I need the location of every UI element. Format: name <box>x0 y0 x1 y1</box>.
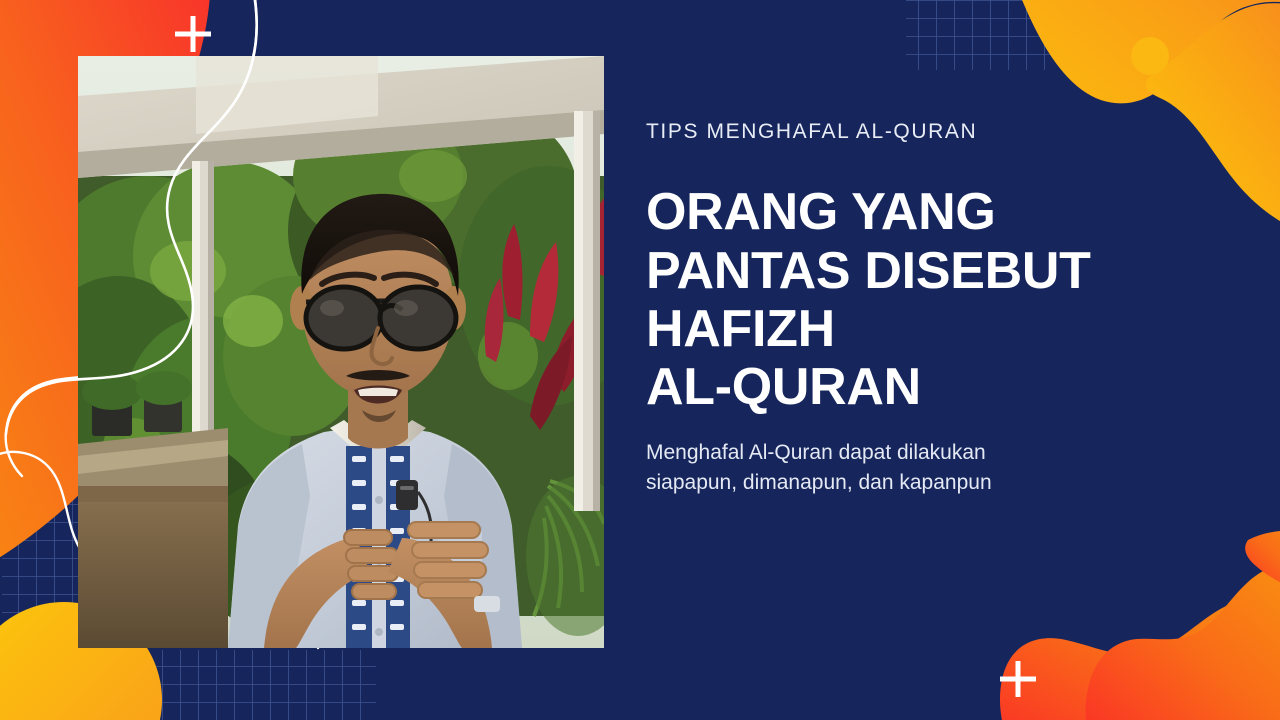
red-orange-blob-bottom-right <box>1000 592 1280 720</box>
text-column: TIPS MENGHAFAL AL-QURAN ORANG YANG PANTA… <box>646 118 1216 498</box>
eyebrow-label: TIPS MENGHAFAL AL-QURAN <box>646 118 1216 145</box>
grid-bottom-strip <box>118 650 376 720</box>
orange-sliver-right <box>1245 531 1280 600</box>
headline-line-1: ORANG YANG <box>646 183 1216 241</box>
speaker-photo <box>78 56 604 648</box>
subtitle: Menghafal Al-Quran dapat dilakukan siapa… <box>646 438 1166 498</box>
lapel-microphone <box>396 480 418 510</box>
headline-line-4: AL-QURAN <box>646 358 1216 416</box>
plus-top-left <box>175 16 211 52</box>
slide-canvas: TIPS MENGHAFAL AL-QURAN ORANG YANG PANTA… <box>0 0 1280 720</box>
headline-line-3: HAFIZH <box>646 300 1216 358</box>
headline-line-2: PANTAS DISEBUT <box>646 242 1216 300</box>
red-orange-blob-bottom-right-lobe <box>1085 559 1280 720</box>
page-title: ORANG YANG PANTAS DISEBUT HAFIZH AL-QURA… <box>646 183 1216 416</box>
speaker-photo-illustration <box>78 56 604 648</box>
grid-top-right <box>906 0 1206 70</box>
yellow-dot-top-right <box>1131 37 1169 75</box>
subtitle-line-2: siapapun, dimanapun, dan kapanpun <box>646 468 1166 498</box>
planter-wall <box>78 428 228 648</box>
plus-bottom-center <box>1000 661 1036 697</box>
subtitle-line-1: Menghafal Al-Quran dapat dilakukan <box>646 438 1166 468</box>
